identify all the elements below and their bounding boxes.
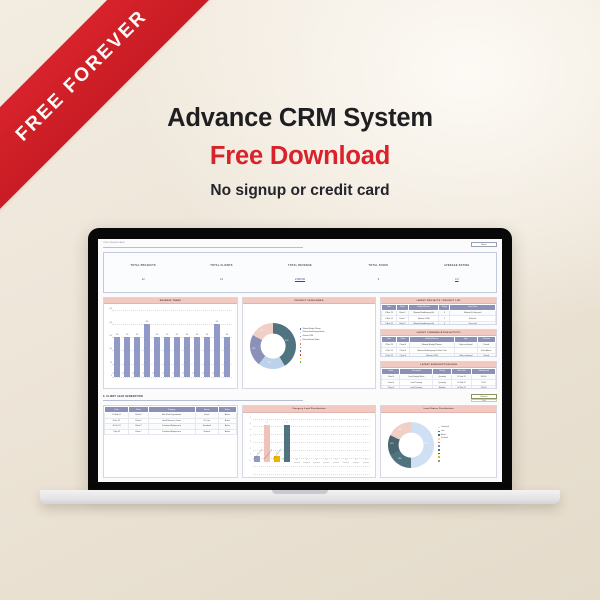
- y-tick-label: 2: [246, 449, 251, 450]
- legend-swatch: [438, 434, 440, 436]
- legend-item: [300, 342, 374, 344]
- legend-swatch: [300, 358, 302, 360]
- y-tick-label: 1: [246, 455, 251, 456]
- legend-item: [438, 441, 494, 443]
- kpi-value: 4.3: [418, 278, 496, 281]
- legend-label: Ultimate Border Model: [303, 339, 320, 341]
- legend-item: [300, 361, 374, 363]
- bar-item: 6 Coach/Consultant: [282, 419, 291, 462]
- title-rule: [103, 247, 303, 248]
- bar-item: 150 Oct: [202, 310, 212, 377]
- legend-item: [300, 353, 374, 355]
- legend-swatch: [438, 427, 440, 429]
- bar: [174, 337, 180, 377]
- communication-table-panel: LATEST COMMUNICATION ACTIVITY DateClient…: [380, 329, 497, 357]
- laptop-lid: CRM DASHBOARD Menu TOTAL PROJECTS 12 TOT…: [88, 228, 512, 491]
- bar-item: 0: [332, 419, 341, 462]
- table-cell: 8 Dec 23: [382, 353, 396, 357]
- legend-item: Ultimate Border Model: [300, 339, 374, 341]
- table-cell: Client 7: [128, 429, 148, 435]
- legend-label: Active: [441, 434, 446, 436]
- project-categories-panel: PROJECT CATEGORIES 41%19%22%17% Ultimate…: [242, 297, 377, 389]
- bar-series: 150 Jan 150 Feb 150 Mar 200 Apr 150 May …: [112, 310, 232, 377]
- laptop-mockup: CRM DASHBOARD Menu TOTAL PROJECTS 12 TOT…: [0, 228, 600, 528]
- section-header: 3. CLIENT LEAD GENERATION Refresh Data: [103, 394, 497, 402]
- legend-swatch: [300, 343, 302, 345]
- bar: [224, 337, 230, 377]
- subscription-table: ClientDescriptionPricingStart DateTotal …: [381, 368, 496, 389]
- legend-swatch: [438, 453, 440, 455]
- table-row[interactable]: 7 Sep 23Client 7Freelance/SolopreneurRef…: [105, 429, 237, 435]
- table-cell: Freelance/Solopreneur: [148, 429, 195, 435]
- legend-item: Contacted: [438, 426, 494, 428]
- kpi-value: 12: [104, 278, 182, 281]
- table-cell: Great call: [450, 321, 496, 325]
- table-cell: Ultimate Bookkeeping Kit: [408, 321, 439, 325]
- bar-item: 0: [351, 419, 360, 462]
- kpi-value: 2,000.00: [261, 278, 339, 281]
- bar-item: 0: [322, 419, 331, 462]
- legend-swatch: [300, 339, 302, 341]
- legend-item: Ultimate Bookkeeping Master: [300, 331, 374, 333]
- legend-item: Active: [438, 434, 494, 436]
- bar-item: 150 Jun: [162, 310, 172, 377]
- legend-swatch: [300, 350, 302, 352]
- table-cell: Closed: [477, 353, 495, 357]
- projects-table: DateClientProduct/ServiceRatingCase Note…: [381, 304, 496, 325]
- bar-item: 150 Feb: [122, 310, 132, 377]
- bar-item: 150 May: [152, 310, 162, 377]
- table-cell: Active: [219, 429, 236, 435]
- legend-swatch: [438, 460, 440, 462]
- legend-item: [300, 350, 374, 352]
- legend-swatch: [438, 445, 440, 447]
- kpi-value: 12: [182, 278, 260, 281]
- bar: [134, 337, 140, 377]
- kpi-strip: TOTAL PROJECTS 12 TOTAL CLIENTS 12 TOTAL…: [103, 252, 497, 293]
- legend-swatch: [438, 431, 440, 433]
- category-bar-chart: 76543210 1 Non Profit Organization 6 Sma…: [243, 413, 376, 477]
- bar-item: 0: [292, 419, 301, 462]
- table-cell: 16 Sep 23: [451, 385, 471, 389]
- bar: [164, 337, 170, 377]
- table-cell: Referral: [195, 429, 219, 435]
- promo-note: No signup or credit card: [0, 182, 600, 200]
- legend-item: [438, 452, 494, 454]
- table-cell: Client 3: [396, 321, 408, 325]
- bar-item: 0: [312, 419, 321, 462]
- communication-table: DateClientProduct/ServiceTypeOutcome8 De…: [381, 336, 496, 357]
- bar-item: 0: [361, 419, 370, 462]
- chart-legend: Ultimate Budget Planner Ultimate Bookkee…: [296, 328, 374, 365]
- legend-item: Ultimate Budget Planner: [300, 328, 374, 330]
- slice-percent-label: 50%: [424, 443, 427, 445]
- revenue-chart: 250200150100500 150 Jan 150 Feb 150 Mar …: [104, 304, 237, 388]
- y-tick-label: 0: [246, 461, 251, 462]
- bar-item: 1 Non Profit Organization: [253, 419, 262, 462]
- section-title: 3. CLIENT LEAD GENERATION: [103, 395, 303, 398]
- table-cell: Order confirmed: [454, 353, 477, 357]
- project-donut-chart: 41%19%22%17% Ultimate Budget Planner Ult…: [243, 304, 376, 388]
- crm-dashboard: CRM DASHBOARD Menu TOTAL PROJECTS 12 TOT…: [98, 239, 502, 482]
- lead-status-panel: Lead Status Distribution 50%18%14%18% Co…: [380, 405, 497, 478]
- chart-legend: Contacted Lost Active Declined: [434, 426, 494, 463]
- legend-swatch: [438, 442, 440, 444]
- bar: [204, 337, 210, 377]
- y-tick-label: 3: [246, 442, 251, 443]
- bar-item: 150 Dec: [222, 310, 232, 377]
- bar-item: 0: [342, 419, 351, 462]
- y-tick-label: 5: [246, 430, 251, 431]
- table-cell: Ultimate CRM: [409, 353, 454, 357]
- gridline: [253, 474, 371, 475]
- bar-item: 150 Sep: [192, 310, 202, 377]
- table-cell: Client 3: [396, 353, 409, 357]
- legend-swatch: [300, 332, 302, 334]
- slice-percent-label: 14%: [390, 443, 393, 445]
- subscription-table-panel: LATEST SUBSCRIPTION DATA ClientDescripti…: [380, 361, 497, 389]
- slice-percent-label: 18%: [398, 458, 401, 460]
- donut-ring: 41%19%22%17%: [250, 323, 296, 369]
- leads-table-panel: DateClientCategorySourceStatus18 Feb 24C…: [103, 405, 238, 478]
- bar-series: 1 Non Profit Organization 6 Small Busine…: [253, 419, 371, 462]
- lead-status-donut: 50%18%14%18% Contacted Lost Active Decli…: [381, 413, 496, 477]
- bar-item: 1 Freelance/Solopreneur: [272, 419, 281, 462]
- slice-percent-label: 41%: [285, 340, 288, 342]
- kpi-label: TOTAL REVENUE: [261, 265, 339, 267]
- y-tick-label: 7: [246, 418, 251, 419]
- legend-swatch: [438, 456, 440, 458]
- slice-percent-label: 22%: [252, 348, 255, 350]
- bar: [184, 337, 190, 377]
- kpi-label: TOTAL TASKS: [339, 265, 417, 267]
- legend-swatch: [300, 361, 302, 363]
- table-cell: Lead Tracking: [400, 385, 433, 389]
- table-cell: 5: [439, 321, 450, 325]
- bar-item: 6 Small Business Owner: [263, 419, 272, 462]
- legend-swatch: [438, 449, 440, 451]
- legend-label: Contacted: [441, 426, 449, 428]
- kpi-label: TOTAL CLIENTS: [182, 265, 260, 267]
- bar-item: 150 Mar: [132, 310, 142, 377]
- kpi-card: TOTAL PROJECTS 12: [104, 265, 182, 281]
- kpi-label: AVERAGE RATING: [418, 265, 496, 267]
- gridline: [112, 377, 232, 378]
- table-row[interactable]: Client 3Lead TrackingMonthly16 Sep 23125…: [382, 385, 496, 389]
- dashboard-title: CRM DASHBOARD: [103, 242, 303, 244]
- laptop-screen: CRM DASHBOARD Menu TOTAL PROJECTS 12 TOT…: [98, 239, 502, 482]
- gridline: [253, 466, 371, 467]
- slice-percent-label: 18%: [398, 429, 401, 431]
- legend-label: Lost: [441, 430, 444, 432]
- kpi-value: 9: [339, 278, 417, 281]
- right-tables-column: LATEST PROJECTS / PROJECT LIST DateClien…: [380, 297, 497, 389]
- legend-item: [438, 448, 494, 450]
- legend-item: [438, 460, 494, 462]
- kpi-card: AVERAGE RATING 4.3: [418, 265, 496, 281]
- legend-label: Declined: [441, 437, 448, 439]
- legend-item: [438, 456, 494, 458]
- table-cell: 8 Nov 23: [382, 321, 396, 325]
- kpi-card: TOTAL TASKS 9: [339, 265, 417, 281]
- dashboard-topbar: CRM DASHBOARD Menu: [103, 242, 497, 251]
- legend-swatch: [300, 347, 302, 349]
- table-cell: 125.00: [471, 385, 495, 389]
- legend-item: Lost: [438, 430, 494, 432]
- bar: [124, 337, 130, 377]
- y-tick-label: 4: [246, 436, 251, 437]
- table-cell: 7 Sep 23: [105, 429, 129, 435]
- kpi-card: TOTAL REVENUE 2,000.00: [261, 265, 339, 281]
- bar-item: 150 Jul: [172, 310, 182, 377]
- kpi-label: TOTAL PROJECTS: [104, 265, 182, 267]
- page-title: Advance CRM System: [0, 104, 600, 133]
- legend-item: [438, 445, 494, 447]
- legend-label: Ultimate Bookkeeping Master: [303, 331, 325, 333]
- legend-swatch: [300, 328, 302, 330]
- bar: [194, 337, 200, 377]
- slice-percent-label: 17%: [260, 330, 263, 332]
- bar: [114, 337, 120, 377]
- promo-headline: Advance CRM System Free Download No sign…: [0, 104, 600, 200]
- bar-item: 150 Jan: [112, 310, 122, 377]
- legend-swatch: [300, 354, 302, 356]
- projects-table-panel: LATEST PROJECTS / PROJECT LIST DateClien…: [380, 297, 497, 325]
- y-axis-ticks: 76543210: [246, 418, 251, 462]
- bar-item: 150 Aug: [182, 310, 192, 377]
- data-button[interactable]: Data: [471, 399, 497, 402]
- donut-ring: 50%18%14%18%: [388, 422, 434, 468]
- y-tick-label: 6: [246, 424, 251, 425]
- section-rule: [103, 400, 303, 401]
- legend-swatch: [300, 336, 302, 338]
- promo-subtitle: Free Download: [0, 142, 600, 171]
- table-cell: Client 3: [382, 385, 400, 389]
- laptop-notch: [272, 490, 328, 494]
- table-cell: Monthly: [433, 385, 452, 389]
- revenue-trend-panel: REVENUE TREND 250200150100500 150 Jan 15…: [103, 297, 238, 389]
- legend-item: [300, 346, 374, 348]
- menu-button[interactable]: Menu: [471, 242, 497, 247]
- legend-item: Declined: [438, 437, 494, 439]
- legend-label: Ultimate Budget Planner: [303, 328, 321, 330]
- bar-item: 200 Nov: [212, 310, 222, 377]
- dashboard-middle-row: REVENUE TREND 250200150100500 150 Jan 15…: [103, 297, 497, 389]
- leads-table: DateClientCategorySourceStatus18 Feb 24C…: [104, 406, 237, 435]
- legend-item: [300, 357, 374, 359]
- legend-label: Ultimate CRM: [303, 335, 314, 337]
- bar-item: 200 Apr: [142, 310, 152, 377]
- bar-item: 0: [302, 419, 311, 462]
- legend-swatch: [438, 438, 440, 440]
- slice-percent-label: 19%: [268, 362, 271, 364]
- legend-item: Ultimate CRM: [300, 335, 374, 337]
- dashboard-bottom-row: DateClientCategorySourceStatus18 Feb 24C…: [103, 405, 497, 478]
- category-lead-panel: Category Lead Distribution 76543210 1 No…: [242, 405, 377, 478]
- table-row[interactable]: 8 Dec 23Client 3Ultimate CRMOrder confir…: [382, 353, 496, 357]
- bar: [214, 324, 220, 377]
- table-row[interactable]: 8 Nov 23Client 3Ultimate Bookkeeping Kit…: [382, 321, 496, 325]
- bar: [144, 324, 150, 377]
- kpi-card: TOTAL CLIENTS 12: [182, 265, 260, 281]
